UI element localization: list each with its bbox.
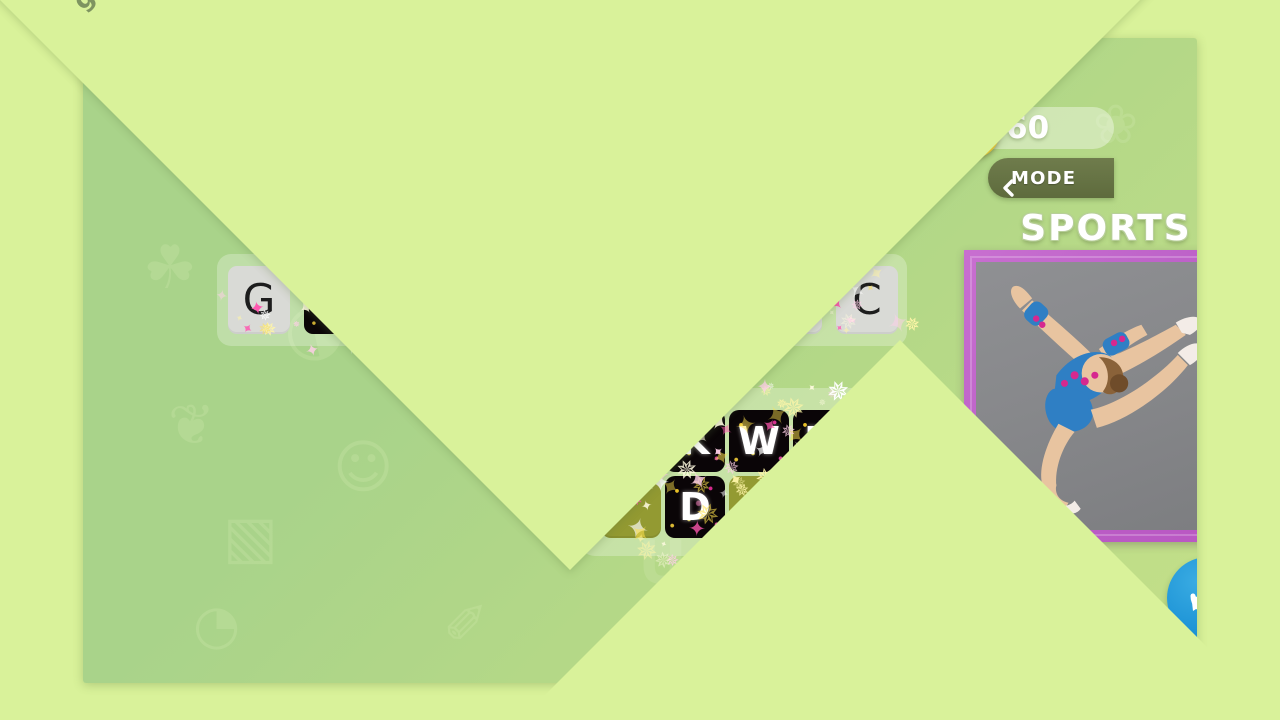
sparkle-particle: ✵ (391, 231, 405, 243)
rack-tile-r2c2[interactable]: D (665, 476, 725, 538)
sparkle-particle: ✵ (935, 431, 963, 459)
word-tile-5[interactable]: A (532, 266, 594, 334)
sparkle-particle: ✵ (388, 357, 398, 368)
sparkle-particle: ✦ (670, 555, 699, 583)
doodle-13: ☺ (333, 438, 393, 496)
sparkle-particle: ✦ (539, 234, 553, 248)
sparkle-particle: ✦ (524, 345, 545, 365)
refresh-icon (1185, 573, 1197, 624)
doodle-16: ◔ (193, 598, 240, 652)
refresh-button-group[interactable] (1167, 557, 1197, 639)
rack-tile-r1c4[interactable]: M (793, 410, 853, 472)
word-tile-8[interactable]: I (760, 266, 822, 334)
doodle-19: ♪ (988, 598, 1022, 652)
doodle-11: ▧ (223, 508, 278, 566)
sparkle-particle: ✦ (374, 239, 384, 250)
word-tile-7[interactable]: T (684, 266, 746, 334)
doodle-7: ♫ (380, 96, 434, 155)
rack-tile-r1c2[interactable]: K (665, 410, 725, 472)
promo-line-1: Solve the MISSING (0, 0, 282, 31)
doodle-12: ❦ (168, 398, 215, 454)
mode-button-label: MODE (1011, 168, 1076, 189)
coin-amount: 60 (1006, 110, 1049, 146)
sparkle-particle: ✵ (635, 226, 653, 243)
hint-button-group[interactable]: ? 100 (686, 102, 778, 166)
sparkle-particle: ✵ (419, 367, 433, 381)
doodle-6: U (635, 156, 689, 220)
rack-tile-r2c4[interactable] (793, 476, 853, 538)
doodle-4: ◯ (828, 70, 886, 122)
sparkle-particle: ✦ (937, 453, 960, 479)
rack-tile-r2c3[interactable] (729, 476, 789, 538)
rack-row-2: D (601, 476, 917, 538)
sparkle-particle: ✦ (552, 359, 582, 387)
sparkle-particle: ✦ (722, 352, 731, 359)
sparkle-particle: ✦ (755, 235, 765, 246)
word-tile-9[interactable]: C (836, 266, 898, 334)
sparkle-particle: ✵ (433, 222, 466, 256)
promo-line-2: word PUZZLE by (0, 0, 304, 41)
rack-tile-r2c5[interactable] (857, 476, 917, 538)
doodle-17: ✐ (443, 598, 488, 652)
word-tile-6[interactable]: S (608, 266, 670, 334)
rack-tile-r1c1[interactable]: H (601, 410, 661, 472)
answer-word-tiles[interactable]: GyMNASTIC (228, 266, 898, 334)
doodle-10: ❦ (1063, 538, 1107, 590)
sparkle-particle: ✵ (939, 474, 966, 501)
coin-icon-label: C (963, 116, 984, 146)
doodle-18: ✉ (703, 603, 748, 657)
gymnast-photo (976, 262, 1197, 530)
game-panel: ◑S❀◯△U♫PU❦▧❦☺☘❀◔✐✉♪ ? 100 C 60 MODE (83, 38, 1197, 683)
sparkle-particle: ✦ (763, 565, 784, 588)
sparkle-particle: ✦ (689, 344, 716, 373)
sparkle-particle: ✵ (558, 225, 587, 257)
rack-tile-r1c3[interactable]: W (729, 410, 789, 472)
mode-button[interactable]: MODE (988, 158, 1114, 198)
sparkle-particle: ✦ (430, 344, 447, 361)
sparkle-particle: ✵ (643, 346, 662, 366)
word-tile-1[interactable]: G (228, 266, 290, 334)
hint-cost-badge: 100 (724, 108, 770, 154)
coin-balance-bar[interactable]: C 60 (934, 107, 1114, 149)
sparkle-particle: ✦ (647, 229, 672, 256)
sparkle-particle: ✦ (564, 361, 585, 382)
game-screen: ◑S❀◯△U♫PU❦▧❦☺☘❀◔✐✉♪ ? 100 C 60 MODE (0, 0, 1280, 720)
sparkle-particle: ✵ (950, 472, 963, 486)
letter-rack[interactable]: HKWMKD (601, 410, 917, 538)
sparkle-particle: ✵ (709, 558, 719, 566)
sparkle-particle: ✵ (675, 351, 700, 376)
word-tile-2[interactable]: y (304, 266, 366, 334)
word-tile-3[interactable]: M (380, 266, 442, 334)
rack-tile-r1c5[interactable]: K (857, 410, 917, 472)
refresh-button[interactable] (1167, 557, 1197, 639)
doodle-14: ☘ (143, 238, 197, 298)
rack-row-1: HKWMK (601, 410, 917, 472)
sparkle-particle: ✵ (377, 350, 412, 387)
rack-tile-r2c1[interactable] (601, 476, 661, 538)
category-title: SPORTS (956, 208, 1197, 249)
word-tile-4[interactable]: N (456, 266, 518, 334)
sparkle-particle: ✵ (677, 348, 708, 376)
sparkle-particle: ✵ (680, 556, 692, 570)
sparkle-particle: ✵ (748, 564, 776, 592)
coin-icon: C (946, 104, 1000, 158)
puzzle-image-frame (964, 250, 1197, 542)
